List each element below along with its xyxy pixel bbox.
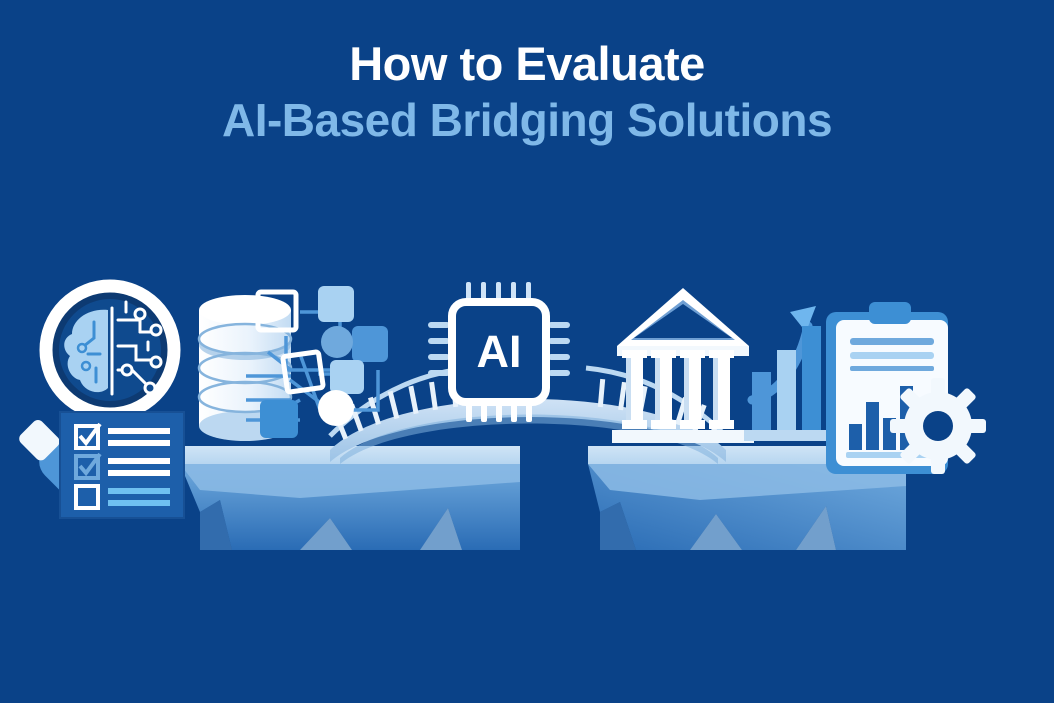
chart-bar <box>866 402 879 450</box>
left-cliff-icon <box>172 446 520 550</box>
chart-bar <box>802 326 821 430</box>
title-line-1: How to Evaluate <box>0 36 1054 91</box>
chart-bar <box>777 350 796 430</box>
ai-chip-label: AI <box>477 326 522 377</box>
title-line-2: AI-Based Bridging Solutions <box>0 91 1054 151</box>
banner-graphic: How to Evaluate AI-Based Bridging Soluti… <box>0 0 1054 703</box>
gear-icon <box>890 378 986 474</box>
bank-building-icon <box>612 288 754 443</box>
growth-chart-icon <box>744 306 830 441</box>
checklist-icon <box>60 412 184 518</box>
illustration-scene: AI <box>0 250 1054 550</box>
page-title: How to Evaluate AI-Based Bridging Soluti… <box>0 36 1054 151</box>
chart-bar <box>849 424 862 450</box>
chart-bar <box>752 372 771 430</box>
